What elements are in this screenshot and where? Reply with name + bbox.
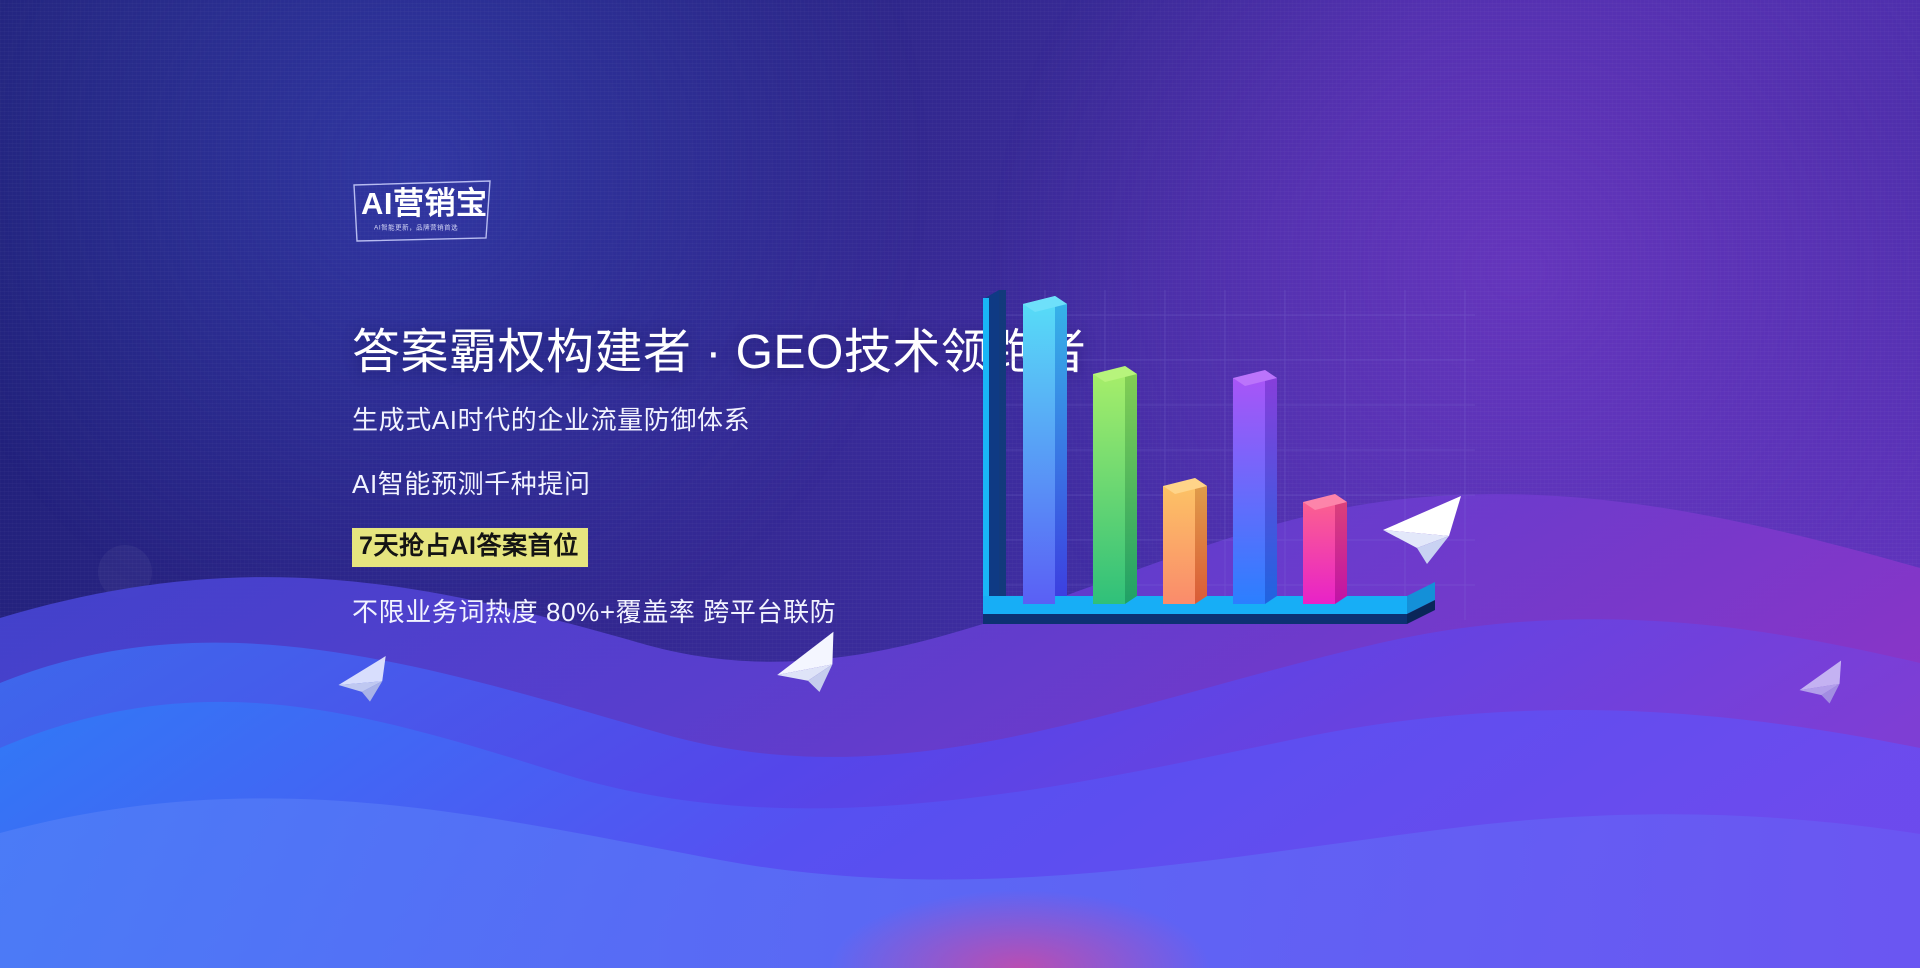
highlight-badge: 7天抢占AI答案首位: [352, 528, 588, 567]
chart-y-axis: [983, 290, 1006, 620]
subtitle-line-2: AI智能预测千种提问: [352, 464, 1072, 501]
hero-banner: AI营销宝 AI智能更新，品牌营销首选 答案霸权构建者 · GEO技术领跑者 生…: [0, 0, 1920, 968]
brand-logo[interactable]: AI营销宝 AI智能更新，品牌营销首选: [352, 180, 492, 242]
paper-plane-icon: [1383, 496, 1461, 564]
highlight-row: 7天抢占AI答案首位: [352, 528, 1072, 567]
subtitle-line-1: 生成式AI时代的企业流量防御体系: [352, 400, 1072, 437]
logo-wordmark: AI营销宝: [361, 188, 488, 219]
chart-bar: [1023, 296, 1067, 604]
page-title: 答案霸权构建者 · GEO技术领跑者: [352, 325, 1072, 382]
subtitle-line-3: 不限业务词热度 80%+覆盖率 跨平台联防: [352, 592, 1072, 629]
chart-bar: [1163, 478, 1207, 604]
chart-bar: [1093, 366, 1137, 604]
chart-bar: [1233, 370, 1277, 604]
bar-chart-illustration: [975, 290, 1495, 670]
hero-copy: 答案霸权构建者 · GEO技术领跑者 生成式AI时代的企业流量防御体系 AI智能…: [352, 325, 1072, 629]
chart-bar: [1303, 494, 1347, 604]
logo-tagline: AI智能更新，品牌营销首选: [374, 223, 458, 232]
